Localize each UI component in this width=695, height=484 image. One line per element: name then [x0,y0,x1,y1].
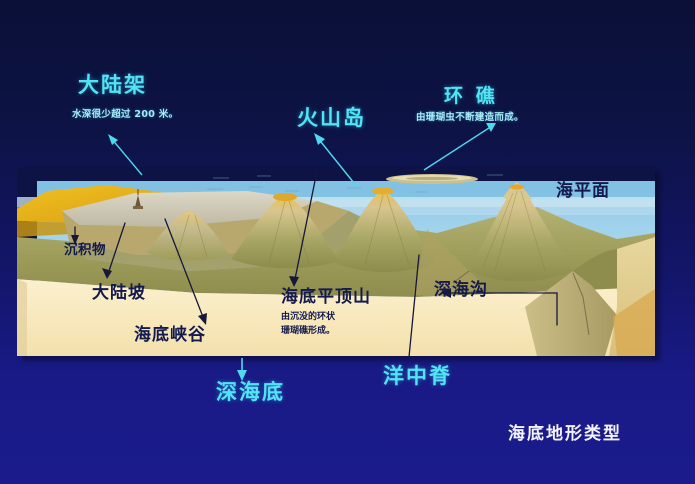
callout-guyot-sublabel-line1: 由沉没的环状 [281,312,335,323]
callout-sediment-label: 沉积物 [64,243,106,258]
callout-atoll-sublabel: 由珊瑚虫不断建造而成。 [416,113,524,123]
callout-continental-slope-label: 大陆坡 [92,284,146,303]
leader-atoll [424,123,496,170]
figure-title: 海底地形类型 [508,425,622,444]
callout-mid-ocean-ridge-label: 洋中脊 [383,365,452,388]
callout-abyssal-plain-label: 深海底 [216,381,285,404]
callout-submarine-canyon-label: 海底峡谷 [134,326,206,345]
leader-abyssal-plain [237,358,247,381]
callout-guyot-label: 海底平顶山 [281,288,371,307]
crater-center [273,193,297,201]
callout-volcanic-island-label: 火山岛 [297,107,366,130]
atoll-reef [386,174,478,184]
figure-canvas: 大陆架 水深很少超过 200 米。 火山岛 环 礁 由珊瑚虫不断建造而成。 海平… [0,0,695,484]
callout-sea-level-label: 海平面 [556,182,610,201]
callout-guyot-sublabel-line2: 珊瑚礁形成。 [281,326,335,337]
crater-island [510,184,524,189]
callout-atoll-label: 环 礁 [444,86,498,107]
crater-right [372,187,394,194]
callout-deep-sea-trench-label: 深海沟 [434,281,488,300]
callout-continental-shelf-sublabel: 水深很少超过 200 米。 [72,110,178,120]
callout-continental-shelf-label: 大陆架 [78,74,147,97]
block-left-bevel [17,279,27,356]
